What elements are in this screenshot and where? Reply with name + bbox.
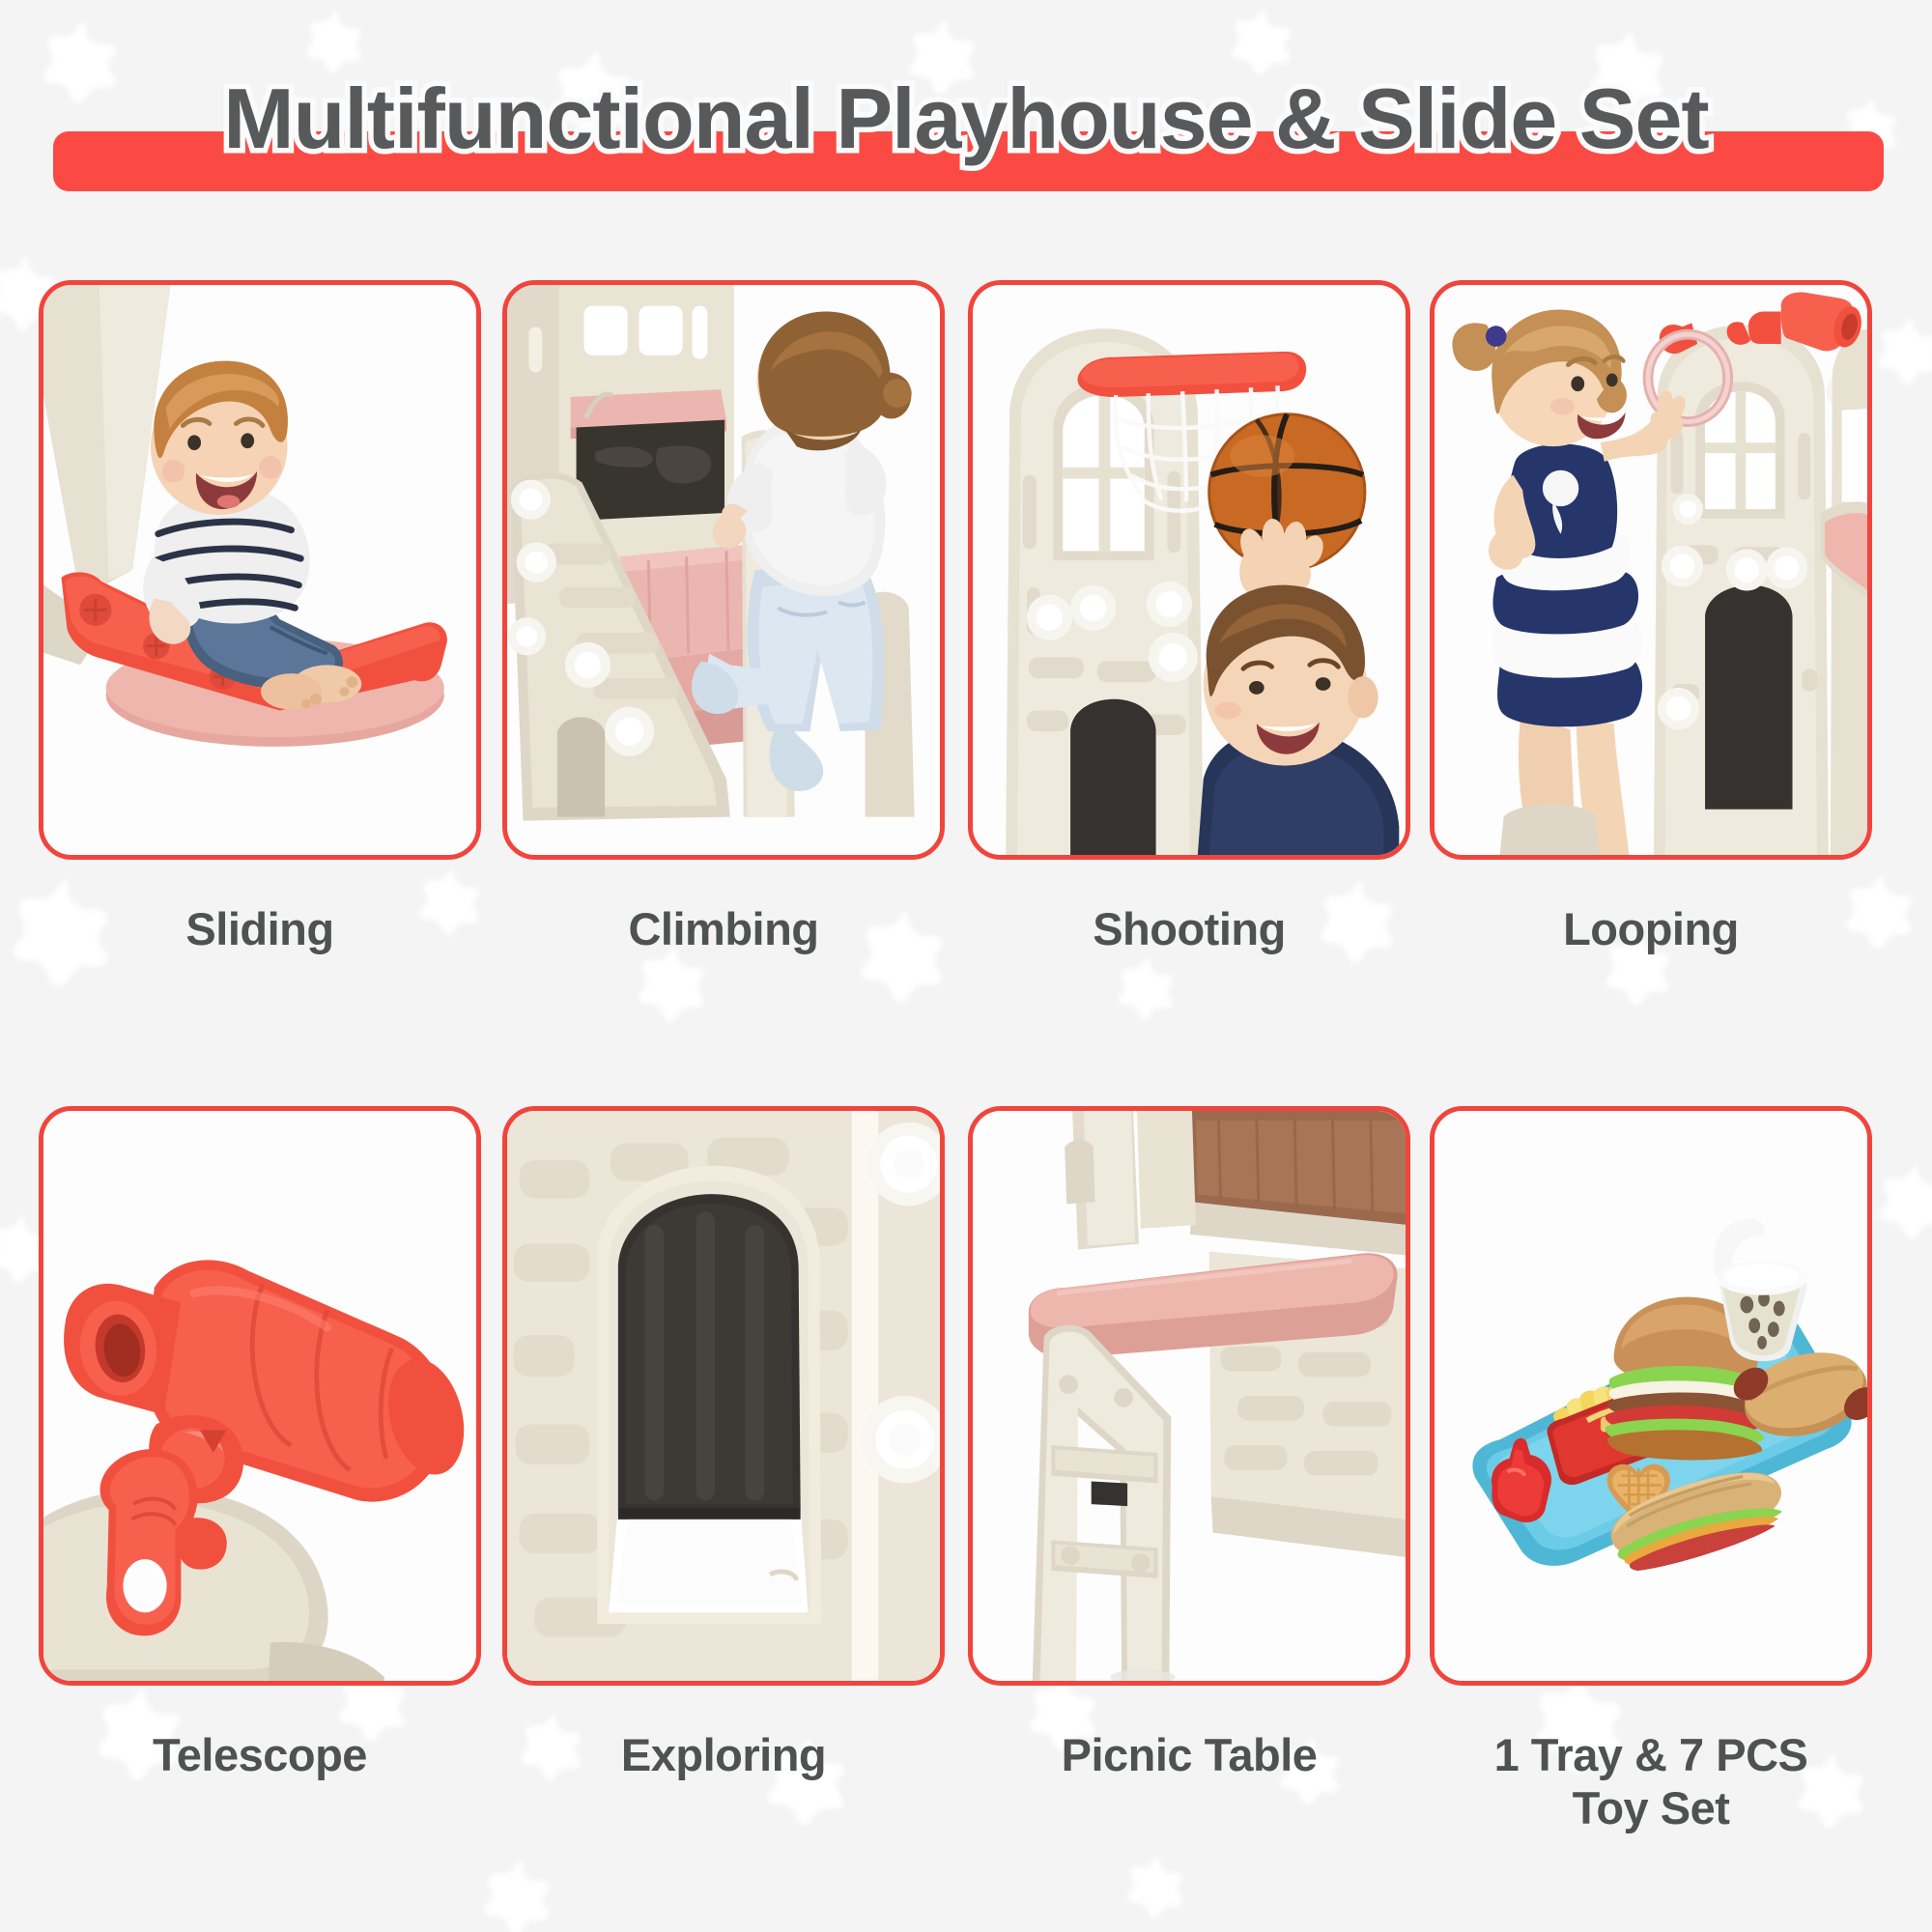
feature-label-exploring: Exploring	[491, 1728, 956, 1781]
scene-boy-basketball-hoop	[973, 285, 1406, 855]
scene-girl-ring-toss	[1435, 285, 1867, 855]
scene-girl-climbing-steps	[507, 285, 940, 855]
feature-cell-looping[interactable]: Looping	[1418, 280, 1884, 1106]
infographic-page: Multifunctional Playhouse & Slide Set	[0, 0, 1932, 1932]
scene-playhouse-doorway	[507, 1111, 940, 1681]
scene-pink-picnic-table	[973, 1111, 1406, 1681]
scene-red-telescope	[43, 1111, 476, 1681]
feature-row-1: Sliding	[0, 280, 1932, 1106]
feature-label-looping: Looping	[1418, 902, 1884, 955]
feature-label-picnic-table: Picnic Table	[956, 1728, 1422, 1781]
feature-label-toy-set: 1 Tray & 7 PCSToy Set	[1418, 1728, 1884, 1835]
feature-grid: Sliding	[0, 280, 1932, 1932]
feature-label-shooting: Shooting	[956, 902, 1422, 955]
feature-card-toy-set[interactable]	[1430, 1106, 1872, 1686]
feature-cell-climbing[interactable]: Climbing	[491, 280, 956, 1106]
feature-label-telescope: Telescope	[27, 1728, 493, 1781]
feature-label-sliding: Sliding	[27, 902, 493, 955]
feature-card-looping[interactable]	[1430, 280, 1872, 860]
scene-food-toy-tray	[1435, 1111, 1867, 1681]
feature-cell-toy-set[interactable]: 1 Tray & 7 PCSToy Set	[1418, 1106, 1884, 1932]
feature-label-climbing: Climbing	[491, 902, 956, 955]
feature-cell-shooting[interactable]: Shooting	[956, 280, 1422, 1106]
feature-card-telescope[interactable]	[39, 1106, 481, 1686]
feature-card-picnic-table[interactable]	[968, 1106, 1410, 1686]
feature-card-shooting[interactable]	[968, 280, 1410, 860]
feature-row-2: Telescope	[0, 1106, 1932, 1932]
feature-card-sliding[interactable]	[39, 280, 481, 860]
scene-boy-on-slide	[43, 285, 476, 855]
feature-cell-picnic-table[interactable]: Picnic Table	[956, 1106, 1422, 1932]
feature-cell-telescope[interactable]: Telescope	[27, 1106, 493, 1932]
feature-card-climbing[interactable]	[502, 280, 945, 860]
feature-card-exploring[interactable]	[502, 1106, 945, 1686]
feature-cell-sliding[interactable]: Sliding	[27, 280, 493, 1106]
feature-cell-exploring[interactable]: Exploring	[491, 1106, 956, 1932]
title-banner: Multifunctional Playhouse & Slide Set	[0, 56, 1932, 201]
page-title: Multifunctional Playhouse & Slide Set	[0, 56, 1932, 182]
